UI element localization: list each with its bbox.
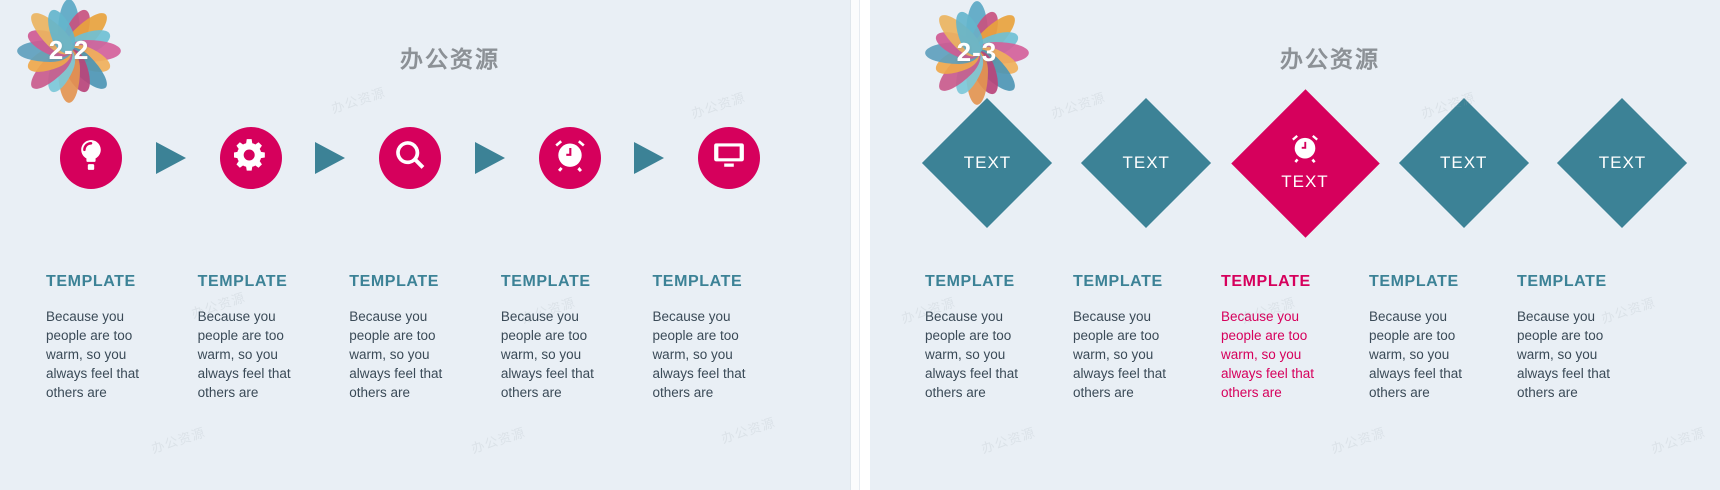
column-body: Because you people are too warm, so you … — [1517, 307, 1629, 402]
column-title: TEMPLATE — [1517, 273, 1651, 291]
column-item: TEMPLATE Because you people are too warm… — [652, 273, 804, 402]
column-item: TEMPLATE Because you people are too warm… — [46, 273, 198, 402]
column-title: TEMPLATE — [349, 273, 487, 291]
column-item: TEMPLATE Because you people are too warm… — [925, 273, 1073, 402]
column-title: TEMPLATE — [46, 273, 184, 291]
arrow-1-icon — [156, 142, 186, 174]
arrow-3-icon — [475, 142, 505, 174]
process-icon-row — [60, 115, 760, 200]
diamond-item-highlighted[interactable]: TEXT — [1242, 100, 1367, 225]
column-body: Because you people are too warm, so you … — [1221, 307, 1333, 402]
monitor-icon — [712, 138, 746, 177]
diamond-content: TEXT — [1401, 100, 1526, 225]
column-title: TEMPLATE — [501, 273, 639, 291]
slide-2-2: 2-2 办公资源 — [0, 0, 850, 490]
diamond-label: TEXT — [964, 153, 1011, 173]
column-title: TEMPLATE — [925, 273, 1059, 291]
column-title: TEMPLATE — [198, 273, 336, 291]
column-item: TEMPLATE Because you people are too warm… — [1369, 273, 1517, 402]
diamond-content: TEXT — [1084, 100, 1209, 225]
alarm-clock-icon — [1290, 133, 1320, 168]
column-body: Because you people are too warm, so you … — [198, 307, 310, 402]
arrow-4-icon — [634, 142, 664, 174]
diamond-item[interactable]: TEXT — [1560, 100, 1685, 225]
step-circle-monitor[interactable] — [698, 127, 760, 189]
step-circle-alarm-clock[interactable] — [539, 127, 601, 189]
column-item-highlighted: TEMPLATE Because you people are too warm… — [1221, 273, 1369, 402]
arrow-2-icon — [315, 142, 345, 174]
slide-2-3: 2-3 办公资源 TEXT TEXT — [870, 0, 1720, 490]
page-title-left: 办公资源 — [0, 40, 850, 74]
column-item: TEMPLATE Because you people are too warm… — [1517, 273, 1665, 402]
page-title-right: 办公资源 — [870, 40, 1720, 74]
step-circle-lightbulb[interactable] — [60, 127, 122, 189]
diamond-item[interactable]: TEXT — [1401, 100, 1526, 225]
diamond-label: TEXT — [1440, 153, 1487, 173]
diamond-content: TEXT — [1560, 100, 1685, 225]
diamond-label: TEXT — [1281, 172, 1328, 192]
column-title: TEMPLATE — [652, 273, 790, 291]
column-body: Because you people are too warm, so you … — [925, 307, 1037, 402]
diamond-label: TEXT — [1122, 153, 1169, 173]
diamond-label: TEXT — [1599, 153, 1646, 173]
search-icon — [393, 138, 427, 177]
column-item: TEMPLATE Because you people are too warm… — [501, 273, 653, 402]
column-body: Because you people are too warm, so you … — [1369, 307, 1481, 402]
diamond-row: TEXT TEXT TEXT — [925, 95, 1685, 230]
column-body: Because you people are too warm, so you … — [1073, 307, 1185, 402]
column-item: TEMPLATE Because you people are too warm… — [1073, 273, 1221, 402]
slide-divider — [850, 0, 860, 490]
column-body: Because you people are too warm, so you … — [652, 307, 764, 402]
step-circle-gear[interactable] — [220, 127, 282, 189]
diamond-content: TEXT — [925, 100, 1050, 225]
column-title: TEMPLATE — [1369, 273, 1503, 291]
diamond-item[interactable]: TEXT — [1084, 100, 1209, 225]
column-title: TEMPLATE — [1221, 273, 1355, 291]
diamond-content: TEXT — [1242, 100, 1367, 225]
column-body: Because you people are too warm, so you … — [46, 307, 158, 402]
column-item: TEMPLATE Because you people are too warm… — [349, 273, 501, 402]
lightbulb-icon — [74, 138, 108, 177]
gear-icon — [234, 138, 268, 177]
column-body: Because you people are too warm, so you … — [501, 307, 613, 402]
column-title: TEMPLATE — [1073, 273, 1207, 291]
diamond-item[interactable]: TEXT — [925, 100, 1050, 225]
column-item: TEMPLATE Because you people are too warm… — [198, 273, 350, 402]
alarm-clock-icon — [553, 138, 587, 177]
column-body: Because you people are too warm, so you … — [349, 307, 461, 402]
slide-pair-canvas: 2-2 办公资源 — [0, 0, 1720, 490]
columns-left: TEMPLATE Because you people are too warm… — [0, 273, 850, 402]
step-circle-search[interactable] — [379, 127, 441, 189]
columns-right: TEMPLATE Because you people are too warm… — [870, 273, 1720, 402]
